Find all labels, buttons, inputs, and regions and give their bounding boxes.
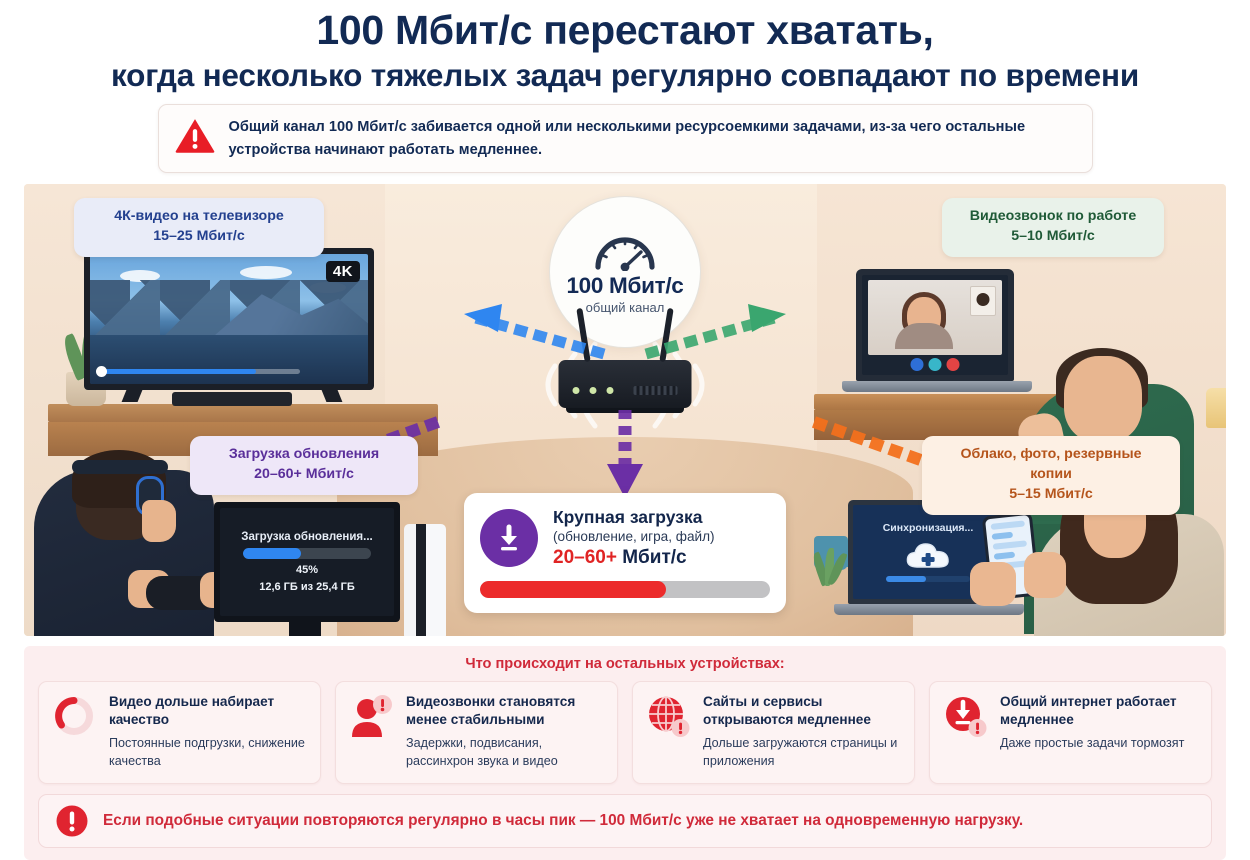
consequence-desc: Задержки, подвисания, рассинхрон звука и… (406, 735, 605, 771)
person-alert-icon (348, 693, 394, 739)
download-progress-bar (243, 548, 371, 559)
wifi-router-icon (559, 360, 692, 408)
alert-box: Общий канал 100 Мбит/с забивается одной … (158, 104, 1093, 173)
large-download-header: Крупная загрузка (обновление, игра, файл… (480, 507, 770, 569)
large-download-progress-bar (480, 581, 770, 598)
footer-warning-box: Если подобные ситуации повторяются регул… (38, 794, 1212, 848)
router-leds (573, 387, 614, 394)
woman-hand-right (1024, 552, 1066, 598)
videocall-screen (862, 275, 1008, 375)
sync-status-text: Синхронизация... (883, 522, 974, 534)
soundbar (172, 392, 292, 406)
consequence-desc: Постоянные подгрузки, снижение качества (109, 735, 308, 771)
consequences-heading: Что происходит на остальных устройствах: (38, 656, 1212, 672)
chip-tv: 4К-видео на телевизоре 15–25 Мбит/с (74, 198, 324, 257)
page-title-line1: 100 Мбит/с перестают хватать, (20, 8, 1230, 54)
consequence-card-videocall: Видеозвонки становятся менее стабильными… (335, 681, 618, 784)
chip-download: Загрузка обновления 20–60+ Мбит/с (190, 436, 418, 495)
game-console (404, 524, 446, 636)
tv-playback-bar[interactable] (100, 369, 300, 374)
large-download-rate-unit: Мбит/с (622, 547, 686, 568)
chip-tv-title: 4К-видео на телевизоре (92, 207, 306, 227)
chip-download-title: Загрузка обновления (208, 445, 400, 465)
self-view-thumbnail (970, 286, 996, 316)
hangup-button[interactable] (947, 358, 960, 371)
arrow-to-tv (416, 302, 616, 366)
consequence-title: Видеозвонки становятся менее стабильными (406, 693, 605, 729)
consequence-card-video: Видео дольше набирает качество Постоянны… (38, 681, 321, 784)
consequence-title: Сайты и сервисы открываются медленнее (703, 693, 902, 729)
chip-download-rate: 20–60+ Мбит/с (208, 465, 400, 485)
consequence-card-internet: Общий интернет работает медленнее Даже п… (929, 681, 1212, 784)
consequences-section: Что происходит на остальных устройствах:… (24, 646, 1226, 860)
page-header: 100 Мбит/с перестают хватать, когда неск… (0, 0, 1250, 93)
chip-cloud-rate: 5–15 Мбит/с (940, 485, 1162, 505)
chip-cloud-title: Облако, фото, резервные копии (940, 445, 1162, 485)
call-controls[interactable] (911, 358, 960, 371)
consequence-title: Видео дольше набирает качество (109, 693, 308, 729)
gamer-face (142, 500, 176, 542)
chip-tv-rate: 15–25 Мбит/с (92, 227, 306, 247)
illustration-panel: 4K Загрузка обновления... 45% 12,6 ГБ из… (24, 184, 1226, 636)
sync-progress-bar (886, 576, 970, 582)
lamp-shade (1206, 388, 1226, 428)
woman-hand-left (970, 562, 1016, 606)
television: 4K (84, 248, 374, 390)
footer-warning-text: Если подобные ситуации повторяются регул… (103, 812, 1023, 830)
alert-text: Общий канал 100 Мбит/с забивается одной … (229, 115, 1074, 161)
download-alert-icon (942, 693, 988, 739)
warning-triangle-icon (175, 117, 215, 154)
chip-cloud: Облако, фото, резервные копии 5–15 Мбит/… (922, 436, 1180, 515)
large-download-rate: 20–60+ Мбит/с (553, 547, 715, 569)
download-circle-icon (480, 509, 538, 567)
buffering-spinner-icon (51, 693, 97, 739)
download-size: 12,6 ГБ из 25,4 ГБ (259, 581, 355, 593)
gaming-monitor-screen: Загрузка обновления... 45% 12,6 ГБ из 25… (220, 508, 394, 616)
router-vent (634, 386, 678, 395)
large-download-card: Крупная загрузка (обновление, игра, файл… (464, 493, 786, 613)
tv-screen: 4K (90, 254, 368, 384)
videocall-frame (868, 280, 1002, 355)
consequence-desc: Дольше загружаются страницы и приложения (703, 735, 902, 771)
alert-band: Общий канал 100 Мбит/с забивается одной … (0, 104, 1250, 173)
arrow-to-card (603, 408, 647, 502)
globe-alert-icon (645, 693, 691, 739)
videocall-laptop-base (842, 381, 1032, 392)
download-percent: 45% (296, 564, 318, 576)
arrow-to-call (634, 302, 834, 366)
lake (90, 335, 368, 384)
mic-button[interactable] (911, 358, 924, 371)
gaming-monitor: Загрузка обновления... 45% 12,6 ГБ из 25… (214, 502, 400, 622)
speedometer-icon (591, 229, 659, 271)
chip-videocall: Видеозвонок по работе 5–10 Мбит/с (942, 198, 1164, 257)
cloud-sync-icon (905, 540, 951, 570)
consequences-cards: Видео дольше набирает качество Постоянны… (38, 681, 1212, 784)
camera-button[interactable] (929, 358, 942, 371)
consequence-title: Общий интернет работает медленнее (1000, 693, 1199, 729)
large-download-title: Крупная загрузка (553, 507, 715, 528)
large-download-rate-value: 20–60+ (553, 547, 617, 568)
headphone-band (72, 460, 168, 474)
consequence-card-sites: Сайты и сервисы открываются медленнее До… (632, 681, 915, 784)
cloud-shape (240, 266, 292, 279)
large-download-subtitle: (обновление, игра, файл) (553, 529, 715, 544)
chip-videocall-rate: 5–10 Мбит/с (960, 227, 1146, 247)
consequence-desc: Даже простые задачи тормозят (1000, 735, 1199, 753)
resolution-badge: 4K (326, 261, 360, 282)
plant-right (816, 552, 842, 604)
man-head (1064, 356, 1142, 442)
speed-value: 100 Мбит/с (566, 273, 683, 299)
videocall-laptop (856, 269, 1014, 381)
monitor-neck (289, 622, 321, 636)
page-title-line2: когда несколько тяжелых задач регулярно … (20, 57, 1230, 93)
chip-videocall-title: Видеозвонок по работе (960, 207, 1146, 227)
download-status-text: Загрузка обновления... (241, 531, 372, 543)
